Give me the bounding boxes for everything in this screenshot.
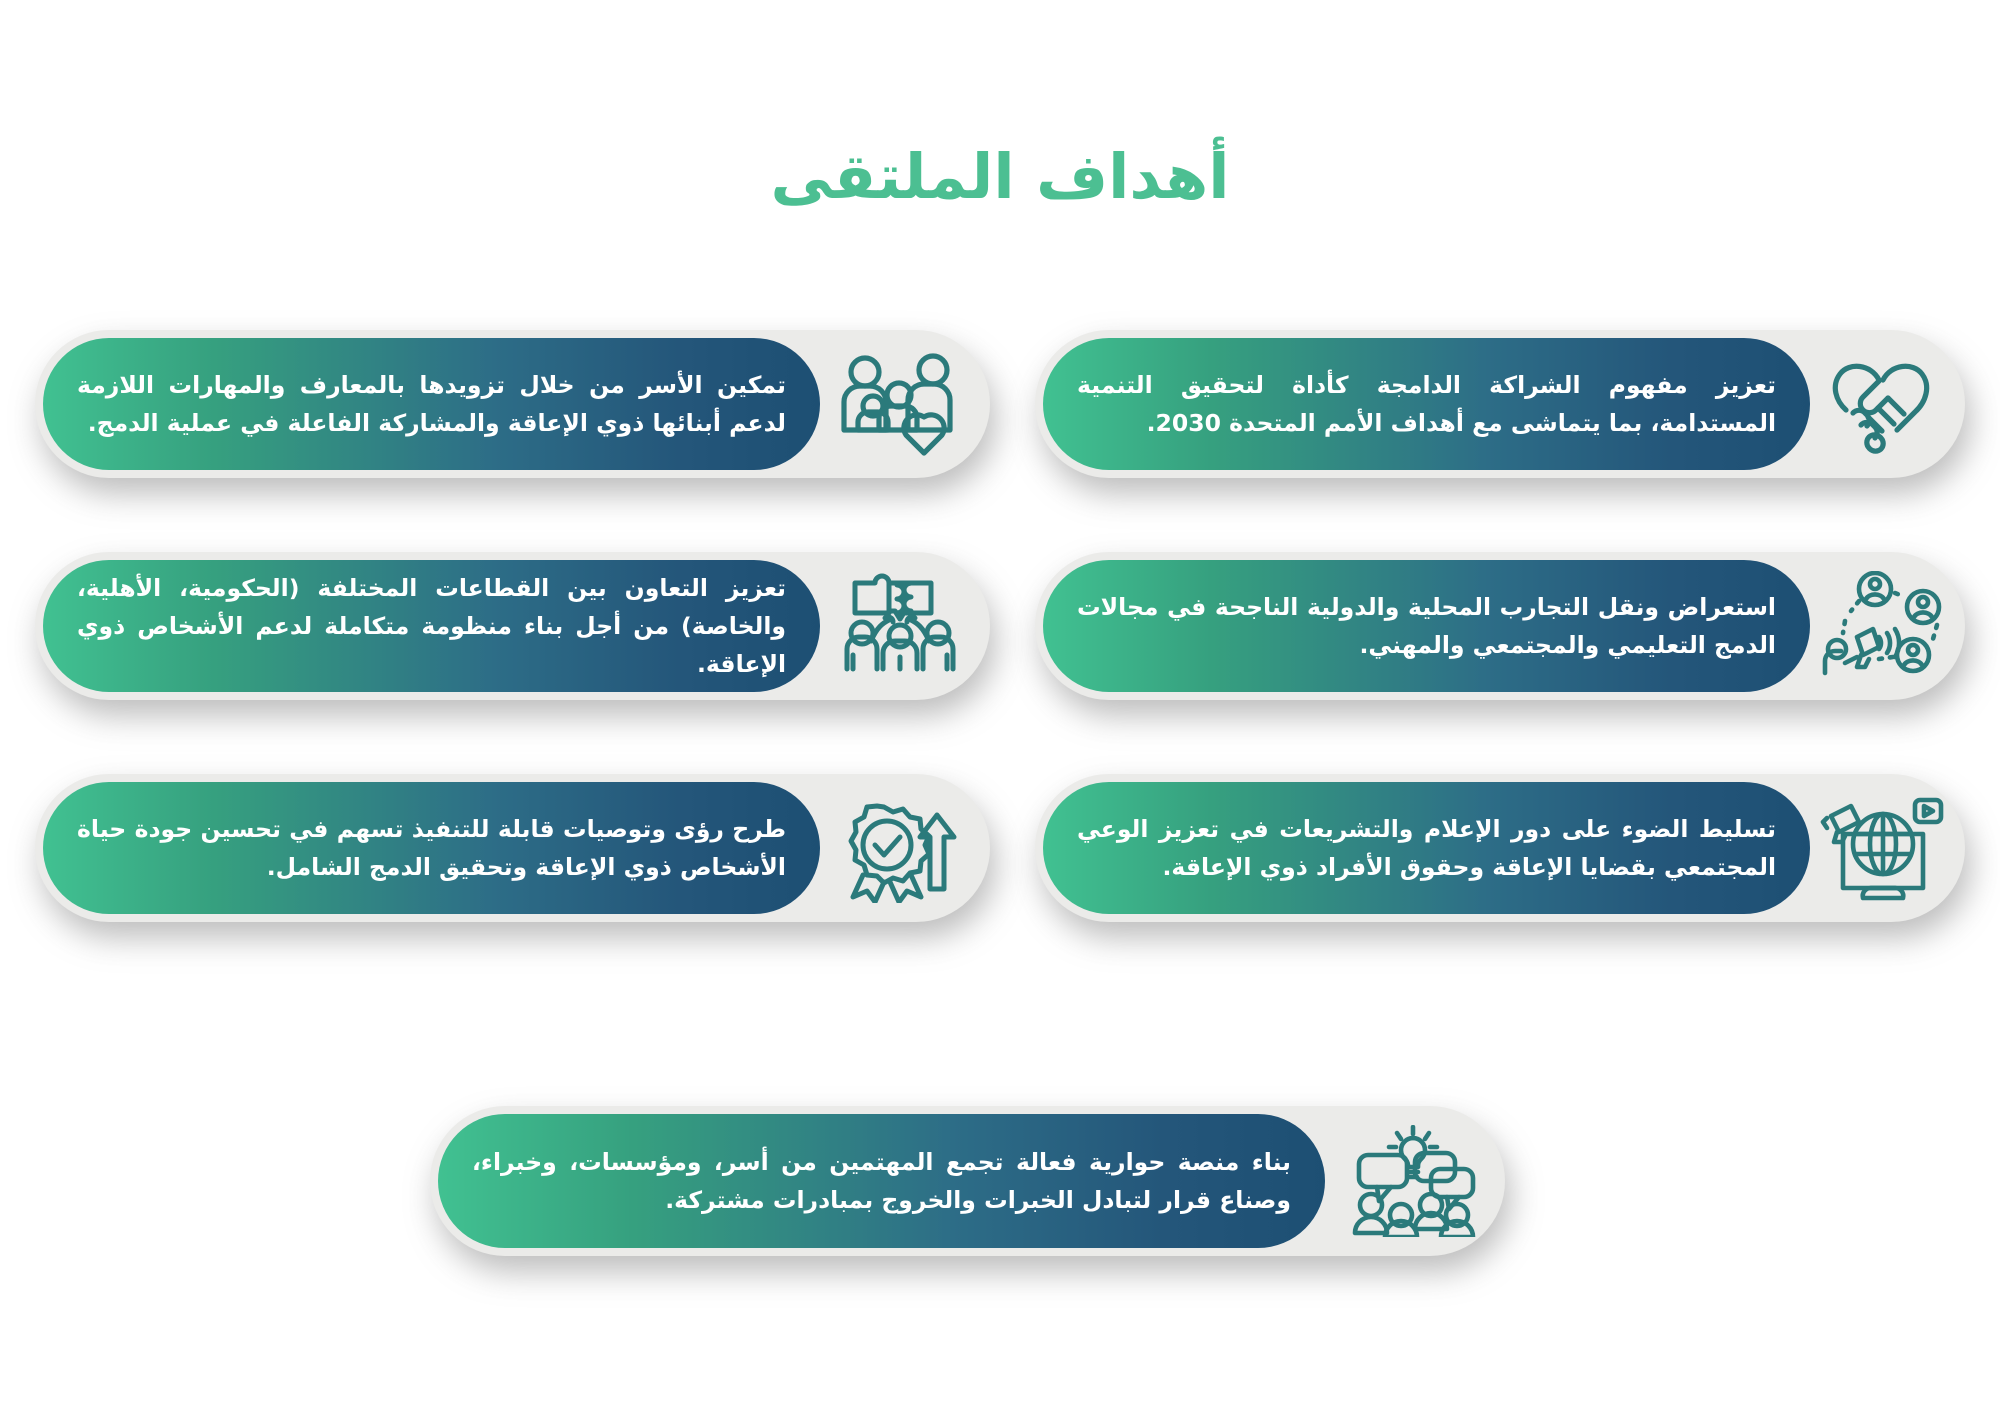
page-title: أهداف الملتقى [771,140,1230,214]
puzzle-teamwork-icon [830,568,970,684]
goals-row-2: تعزيز التعاون بين القطاعات المختلفة (الح… [0,552,2000,774]
goal-card-family-empowerment[interactable]: تمكين الأسر من خلال تزويدها بالمعارف وال… [35,330,990,478]
goal-text-pill: استعراض ونقل التجارب المحلية والدولية ال… [1043,560,1810,692]
quality-badge-arrows-icon [830,790,970,906]
family-heart-icon [830,346,970,462]
goal-text-pill: بناء منصة حوارية فعالة تجمع المهتمين من … [438,1114,1325,1248]
media-globe-screen-icon [1811,790,1951,906]
card-sheen [1075,698,1925,710]
goal-text: تمكين الأسر من خلال تزويدها بالمعارف وال… [77,366,786,442]
goal-text-pill: تمكين الأسر من خلال تزويدها بالمعارف وال… [43,338,820,470]
goals-row-4: بناء منصة حوارية فعالة تجمع المهتمين من … [0,1106,2000,1366]
goals-row-3: طرح رؤى وتوصيات قابلة للتنفيذ تسهم في تح… [0,774,2000,996]
card-sheen [470,1254,1465,1266]
goal-card-dialogue-platform[interactable]: بناء منصة حوارية فعالة تجمع المهتمين من … [430,1106,1505,1256]
goal-text-pill: تعزيز مفهوم الشراكة الدامجة كأداة لتحقيق… [1043,338,1810,470]
card-sheen [75,920,950,932]
goal-text: تسليط الضوء على دور الإعلام والتشريعات ف… [1077,810,1776,886]
goals-board: تمكين الأسر من خلال تزويدها بالمعارف وال… [0,330,2000,1366]
handshake-heart-icon [1811,346,1951,462]
goal-text-pill: تسليط الضوء على دور الإعلام والتشريعات ف… [1043,782,1810,914]
goal-card-share-experiences[interactable]: استعراض ونقل التجارب المحلية والدولية ال… [1035,552,1965,700]
discussion-lightbulb-icon [1343,1123,1483,1239]
goals-row-1: تمكين الأسر من خلال تزويدها بالمعارف وال… [0,330,2000,552]
goal-text-pill: تعزيز التعاون بين القطاعات المختلفة (الح… [43,560,820,692]
goal-card-media-awareness[interactable]: تسليط الضوء على دور الإعلام والتشريعات ف… [1035,774,1965,922]
goal-text-pill: طرح رؤى وتوصيات قابلة للتنفيذ تسهم في تح… [43,782,820,914]
card-sheen [1075,476,1925,488]
card-sheen [75,698,950,710]
goal-text: تعزيز التعاون بين القطاعات المختلفة (الح… [77,569,786,683]
megaphone-network-icon [1811,568,1951,684]
goal-card-sector-cooperation[interactable]: تعزيز التعاون بين القطاعات المختلفة (الح… [35,552,990,700]
card-sheen [1075,920,1925,932]
goal-text: تعزيز مفهوم الشراكة الدامجة كأداة لتحقيق… [1077,366,1776,442]
goal-text: طرح رؤى وتوصيات قابلة للتنفيذ تسهم في تح… [77,810,786,886]
title-container: أهداف الملتقى [0,140,2000,214]
goal-text: استعراض ونقل التجارب المحلية والدولية ال… [1077,588,1776,664]
goal-card-partnership[interactable]: تعزيز مفهوم الشراكة الدامجة كأداة لتحقيق… [1035,330,1965,478]
goal-text: بناء منصة حوارية فعالة تجمع المهتمين من … [472,1143,1291,1219]
card-sheen [75,476,950,488]
goal-card-recommendations[interactable]: طرح رؤى وتوصيات قابلة للتنفيذ تسهم في تح… [35,774,990,922]
